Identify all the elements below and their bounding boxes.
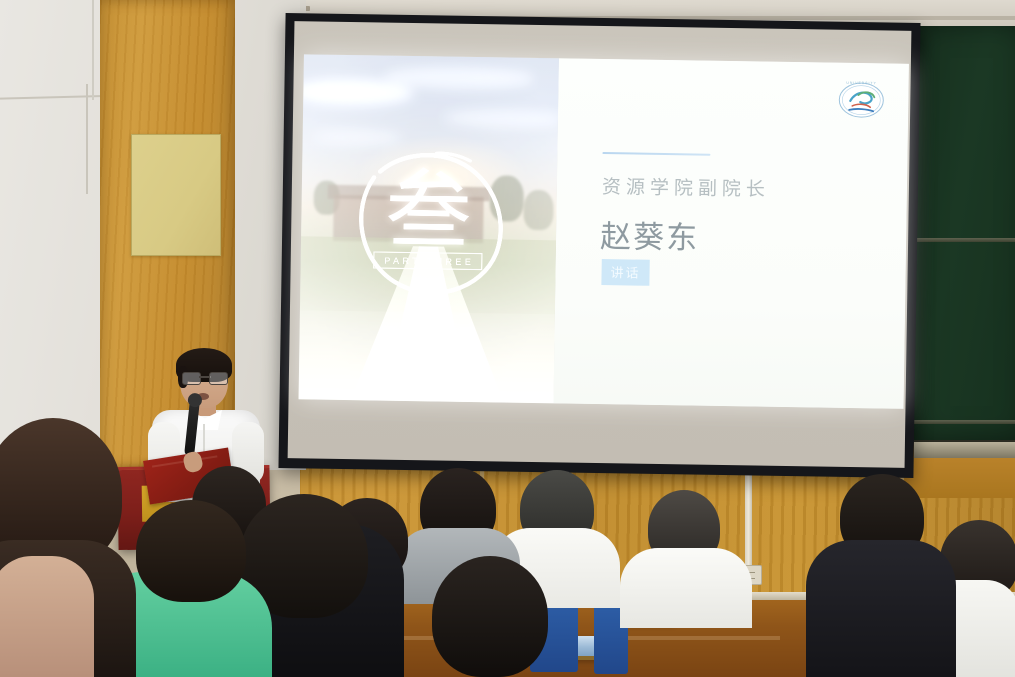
speaker-role: 资源学院副院长 [602, 172, 770, 202]
audience-head [136, 500, 246, 602]
chalkboard-divider [914, 420, 1015, 424]
section-subtitle: PART THREE [373, 251, 482, 270]
slide-divider-rule [602, 152, 710, 156]
green-chalkboard [905, 22, 1015, 442]
slide-photo-campus-path: 叁 PART THREE [299, 54, 559, 403]
university-logo-icon: UNIVERSITY [836, 75, 887, 126]
lecture-hall-photo: 叁 PART THREE UNIVERSI [0, 0, 1015, 677]
slide-text-panel: UNIVERSITY 资源学院副院长 赵葵东 讲话 [554, 58, 909, 408]
part-three-emblem: 叁 PART THREE [342, 133, 515, 306]
audience-head [432, 556, 548, 677]
svg-text:UNIVERSITY: UNIVERSITY [846, 81, 876, 85]
speaker-name: 赵葵东 [600, 211, 700, 258]
wall-conduit [745, 468, 752, 573]
screen-surface: 叁 PART THREE UNIVERSI [288, 21, 912, 468]
column-notice-panel [131, 134, 221, 256]
wall-seam [92, 0, 94, 100]
audience-shirt-dark [806, 540, 956, 677]
speech-badge: 讲话 [601, 259, 649, 286]
glasses-icon [182, 372, 228, 383]
wall-seam [86, 84, 88, 194]
chalk-tray [914, 440, 1015, 458]
glasses-lens-left [182, 372, 201, 385]
audience-shirt-white [620, 548, 752, 628]
glasses-lens-right [209, 372, 228, 385]
projected-slide: 叁 PART THREE UNIVERSI [299, 54, 909, 408]
chalkboard-divider [914, 238, 1015, 242]
audience-head [0, 556, 94, 677]
projection-screen: 叁 PART THREE UNIVERSI [278, 13, 920, 478]
section-number: 叁 [342, 125, 515, 298]
wall-under-chalkboard [905, 458, 1015, 498]
